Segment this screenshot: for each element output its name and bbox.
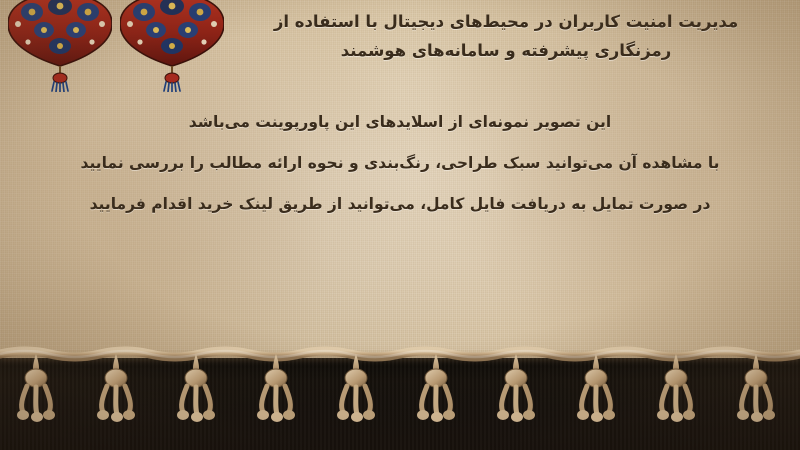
slide-canvas: مدیریت امنیت کاربران در محیط‌های دیجیتال… (0, 0, 800, 450)
background-vignette (0, 0, 800, 450)
